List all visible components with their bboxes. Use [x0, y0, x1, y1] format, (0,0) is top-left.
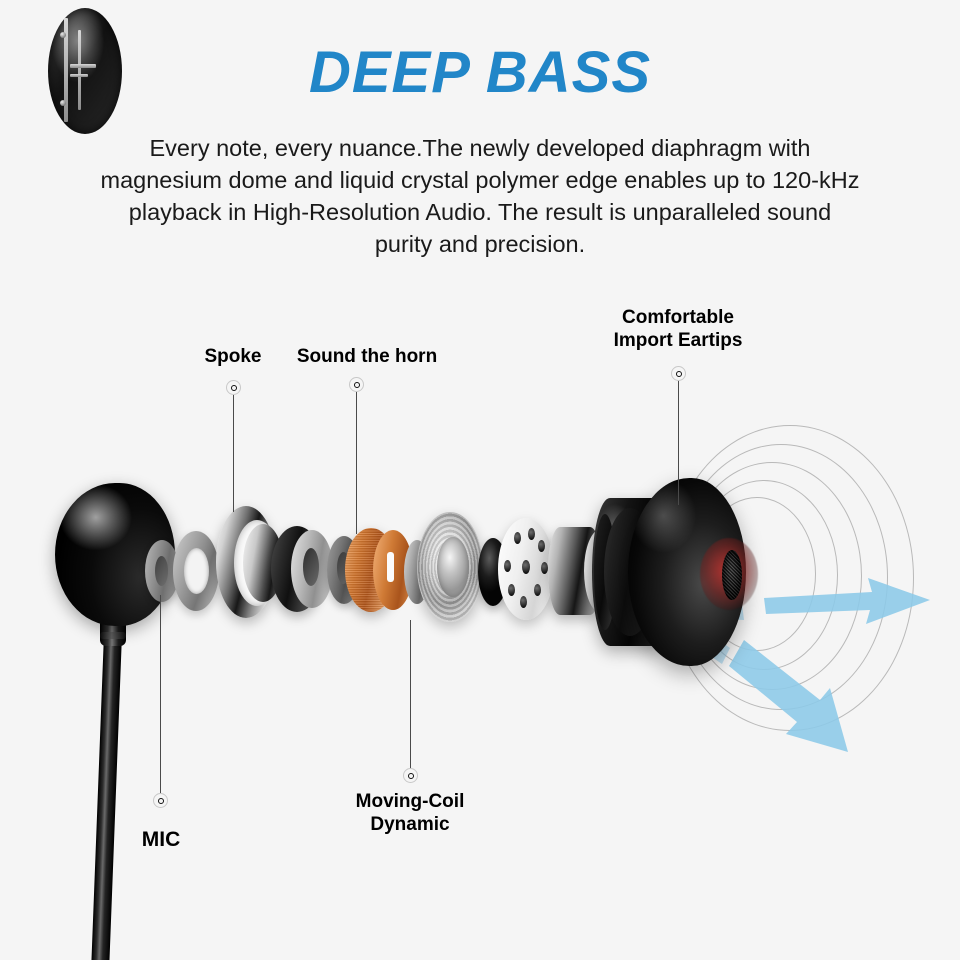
callout-label-comfortable-import-eartips: Comfortable Import Eartips [578, 306, 778, 352]
perforation [508, 584, 515, 596]
callout-label-mic: MIC [110, 828, 212, 851]
perforation [514, 532, 521, 544]
part-washer-bore [155, 556, 168, 586]
callout-label-moving-coil-dynamic: Moving-Coil Dynamic [325, 790, 495, 836]
callout-marker-mic [153, 793, 168, 808]
infographic-page: DEEP BASS Every note, every nuance.The n… [0, 0, 960, 960]
perforation [541, 562, 548, 574]
callout-marker-sound-the-horn [349, 377, 364, 392]
callout-marker-moving-coil-dynamic [403, 768, 418, 783]
callout-label-sound-the-horn: Sound the horn [266, 345, 468, 368]
callout-marker-comfortable-import-eartips [671, 366, 686, 381]
perforation [504, 560, 511, 572]
callout-leader-comfortable-import-eartips [678, 381, 679, 505]
callout-leader-sound-the-horn [356, 392, 357, 534]
part-eartip-mesh-bore [722, 550, 742, 600]
part-dark-hub-bore [303, 548, 319, 586]
housing-rib-3 [70, 64, 96, 68]
perforation [520, 596, 527, 608]
callout-leader-mic [160, 595, 161, 795]
callout-leader-spoke [233, 395, 234, 512]
cable-collar-ring [100, 632, 126, 639]
arrow-right-icon [764, 578, 930, 624]
callout-marker-spoke [226, 380, 241, 395]
part-gray-ring-bore [184, 548, 209, 594]
part-perforated-plate [498, 518, 554, 620]
part-copper-coil-slot [387, 552, 394, 582]
perforation [538, 540, 545, 552]
callout-leader-moving-coil-dynamic [410, 620, 411, 770]
housing-screw-bottom [60, 100, 66, 106]
perforation-center [522, 560, 530, 574]
housing-screw-top [60, 32, 66, 38]
housing-inner-face [48, 8, 122, 134]
part-diaphragm-center [437, 537, 469, 597]
housing-rib-4 [70, 74, 88, 77]
perforation [534, 584, 541, 596]
housing-rib-2 [78, 30, 81, 110]
arrow-down-right-icon [729, 640, 848, 752]
perforation [528, 528, 535, 540]
